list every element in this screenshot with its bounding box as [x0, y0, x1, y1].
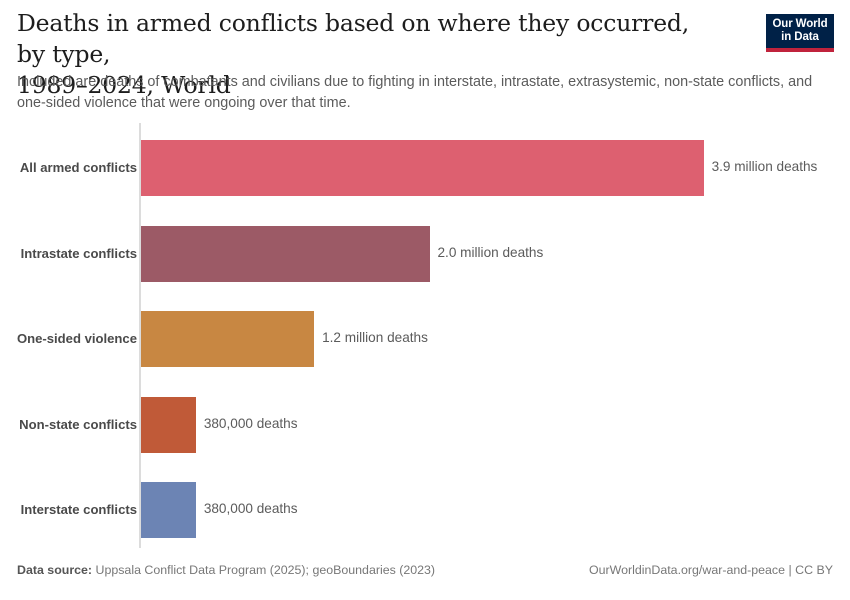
bar-row[interactable]: Non-state conflicts380,000 deaths [0, 397, 850, 453]
data-source-text: Uppsala Conflict Data Program (2025); ge… [92, 563, 435, 577]
bar-row[interactable]: One-sided violence1.2 million deaths [0, 311, 850, 367]
bar-category-label: Interstate conflicts [21, 502, 137, 517]
bar-category-label: One-sided violence [17, 331, 137, 346]
chart-footer: Data source: Uppsala Conflict Data Progr… [0, 563, 850, 587]
bar-row[interactable]: All armed conflicts3.9 million deaths [0, 140, 850, 196]
data-source: Data source: Uppsala Conflict Data Progr… [17, 563, 435, 577]
bar-value-label: 380,000 deaths [204, 501, 298, 516]
bar[interactable] [141, 482, 196, 538]
chart-subtitle: Included are deaths of combatants and ci… [17, 72, 822, 113]
bar-value-label: 2.0 million deaths [438, 245, 544, 260]
bar-value-label: 3.9 million deaths [712, 159, 818, 174]
bar[interactable] [141, 397, 196, 453]
bar[interactable] [141, 311, 314, 367]
bar-row[interactable]: Interstate conflicts380,000 deaths [0, 482, 850, 538]
bar[interactable] [141, 226, 430, 282]
owid-logo[interactable]: Our World in Data [766, 14, 834, 52]
bar-value-label: 1.2 million deaths [322, 330, 428, 345]
data-source-label: Data source: [17, 563, 92, 577]
bar-chart: All armed conflicts3.9 million deathsInt… [0, 123, 850, 551]
bar-category-label: All armed conflicts [20, 160, 137, 175]
license-note[interactable]: OurWorldinData.org/war-and-peace | CC BY [589, 563, 833, 577]
bar-value-label: 380,000 deaths [204, 416, 298, 431]
bar-row[interactable]: Intrastate conflicts2.0 million deaths [0, 226, 850, 282]
bar-category-label: Intrastate conflicts [21, 246, 137, 261]
logo-line-1: Our World [772, 18, 827, 31]
bar[interactable] [141, 140, 704, 196]
logo-line-2: in Data [781, 31, 819, 44]
bar-category-label: Non-state conflicts [19, 417, 137, 432]
